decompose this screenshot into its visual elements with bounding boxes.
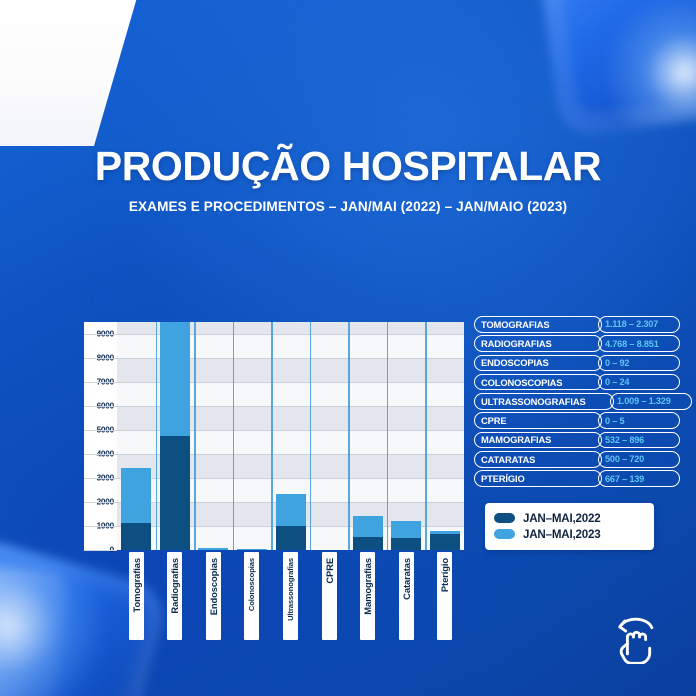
- y-axis-tick-mark: [84, 382, 117, 383]
- page-title: PRODUÇÃO HOSPITALAR: [0, 146, 696, 188]
- chart-category-separator: [387, 322, 388, 550]
- chart-category-separator: [271, 322, 272, 550]
- chart-bar[interactable]: [276, 494, 306, 550]
- stat-name-pill[interactable]: ENDOSCOPIAS: [474, 355, 602, 372]
- chart-bar-segment-2022: [121, 523, 151, 550]
- y-axis-tick-mark: [84, 526, 117, 527]
- poster-canvas: PRODUÇÃO HOSPITALAR EXAMES E PROCEDIMENT…: [0, 0, 696, 696]
- stat-row: COLONOSCOPIAS0 – 24: [474, 374, 680, 391]
- stat-row: RADIOGRAFIAS4.768 – 8.851: [474, 335, 680, 352]
- legend-item[interactable]: JAN–MAI,2023: [494, 526, 646, 542]
- stat-name-pill[interactable]: CPRE: [474, 412, 602, 429]
- swipe-hand-icon[interactable]: [608, 610, 662, 664]
- stat-value-pill[interactable]: 0 – 92: [598, 355, 680, 372]
- legend-label: JAN–MAI,2022: [523, 512, 601, 525]
- chart-bar-segment-2023: [353, 516, 383, 538]
- stat-row: CPRE0 – 5: [474, 412, 680, 429]
- y-axis-tick-mark: [84, 406, 117, 407]
- stat-value-pill[interactable]: 1.009 – 1.329: [610, 393, 692, 410]
- stat-row: ULTRASSONOGRAFIAS1.009 – 1.329: [474, 393, 680, 410]
- stat-name-pill[interactable]: PTERÍGIO: [474, 470, 602, 487]
- legend-swatch: [494, 529, 515, 539]
- chart-bar[interactable]: [121, 468, 151, 550]
- chart-bar-segment-2022: [353, 537, 383, 550]
- stat-value-pill[interactable]: 4.768 – 8.851: [598, 335, 680, 352]
- legend-item[interactable]: JAN–MAI,2022: [494, 510, 646, 526]
- chart-category-separator: [156, 322, 157, 550]
- chart-legend: JAN–MAI,2022JAN–MAI,2023: [485, 503, 654, 550]
- chart-bar-segment-2023: [121, 468, 151, 523]
- chart-y-axis: 0100020003000400050006000700080009000: [84, 322, 118, 550]
- chart-bar-segment-2022: [160, 436, 190, 550]
- stat-name-pill[interactable]: CATARATAS: [474, 451, 602, 468]
- chart-category-separator: [310, 322, 311, 550]
- chart-bar-segment-2023: [391, 521, 421, 538]
- bar-chart: 0100020003000400050006000700080009000: [84, 322, 464, 550]
- legend-label: JAN–MAI,2023: [523, 528, 601, 541]
- stat-name-pill[interactable]: RADIOGRAFIAS: [474, 335, 602, 352]
- chart-bar[interactable]: [430, 531, 460, 550]
- stat-value-pill[interactable]: 0 – 5: [598, 412, 680, 429]
- decorative-blue-object-top-right: [539, 0, 696, 138]
- chart-plot-area: [117, 322, 464, 550]
- chart-bar-segment-2022: [391, 538, 421, 550]
- chart-bar-segment-2023: [430, 531, 460, 534]
- y-axis-tick-mark: [84, 334, 117, 335]
- stat-name-pill[interactable]: MAMOGRAFIAS: [474, 432, 602, 449]
- y-axis-tick-mark: [84, 502, 117, 503]
- chart-category-separator: [425, 322, 426, 550]
- stat-value-pill[interactable]: 667 – 139: [598, 470, 680, 487]
- stat-value-pill[interactable]: 500 – 720: [598, 451, 680, 468]
- stat-value-pill[interactable]: 0 – 24: [598, 374, 680, 391]
- stat-value-pill[interactable]: 532 – 896: [598, 432, 680, 449]
- y-axis-tick-mark: [84, 430, 117, 431]
- stat-name-pill[interactable]: TOMOGRAFIAS: [474, 316, 602, 333]
- stat-row: TOMOGRAFIAS1.118 – 2.307: [474, 316, 680, 333]
- y-axis-tick-mark: [84, 454, 117, 455]
- stat-row: ENDOSCOPIAS0 – 92: [474, 355, 680, 372]
- chart-bar-segment-2023: [160, 322, 190, 436]
- stat-name-pill[interactable]: COLONOSCOPIAS: [474, 374, 602, 391]
- y-axis-tick-mark: [84, 478, 117, 479]
- chart-bar-segment-2023: [237, 549, 267, 550]
- chart-bar-segment-2023: [276, 494, 306, 526]
- chart-bar-segment-2022: [276, 526, 306, 550]
- stat-name-pill[interactable]: ULTRASSONOGRAFIAS: [474, 393, 614, 410]
- stat-row: CATARATAS500 – 720: [474, 451, 680, 468]
- chart-bar[interactable]: [391, 521, 421, 550]
- header: PRODUÇÃO HOSPITALAR EXAMES E PROCEDIMENT…: [0, 146, 696, 214]
- chart-category-separator: [233, 322, 234, 550]
- y-axis-tick-mark: [84, 358, 117, 359]
- page-subtitle: EXAMES E PROCEDIMENTOS – JAN/MAI (2022) …: [0, 199, 696, 214]
- chart-bar-segment-2023: [198, 548, 228, 550]
- legend-swatch: [494, 513, 515, 523]
- stat-row: PTERÍGIO667 – 139: [474, 470, 680, 487]
- chart-category-separator: [348, 322, 349, 550]
- chart-category-separator: [194, 322, 195, 550]
- stat-value-pill[interactable]: 1.118 – 2.307: [598, 316, 680, 333]
- chart-bar[interactable]: [160, 322, 190, 550]
- chart-bar[interactable]: [198, 548, 228, 550]
- y-axis-tick-mark: [84, 550, 117, 551]
- stats-list: TOMOGRAFIAS1.118 – 2.307RADIOGRAFIAS4.76…: [474, 316, 680, 490]
- stat-row: MAMOGRAFIAS532 – 896: [474, 432, 680, 449]
- chart-bar[interactable]: [237, 549, 267, 550]
- chart-bar[interactable]: [353, 516, 383, 550]
- chart-bar-segment-2022: [430, 534, 460, 550]
